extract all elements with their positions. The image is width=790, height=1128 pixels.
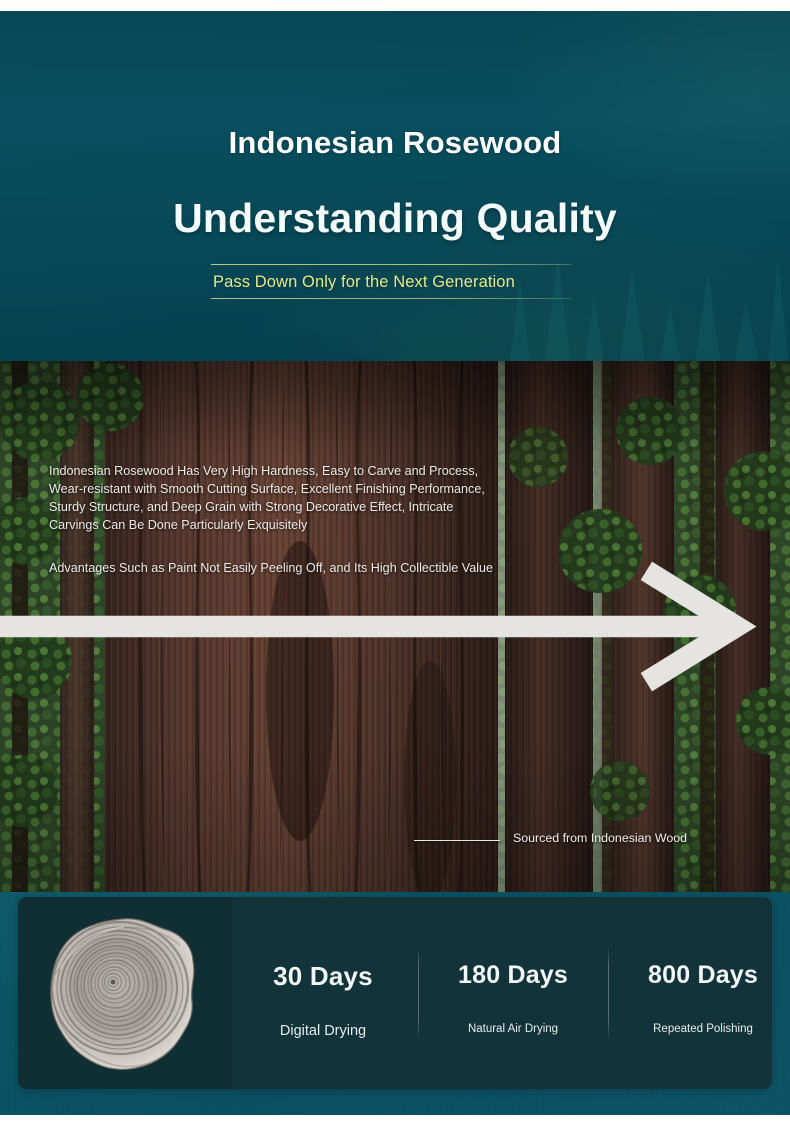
bottom-white-band [0, 1115, 790, 1128]
stats-card-image-panel [18, 897, 233, 1089]
stats-card-values-panel: 30 Days Digital Drying 180 Days Natural … [233, 897, 772, 1089]
tagline-rule-top [211, 264, 571, 265]
stat-item: 30 Days Digital Drying [233, 897, 413, 1089]
stat-value: 180 Days [423, 961, 603, 990]
stat-value: 30 Days [233, 961, 413, 992]
hero-section: Indonesian Rosewood Understanding Qualit… [0, 11, 790, 361]
hero-vignette [0, 11, 790, 361]
tagline-text: Pass Down Only for the Next Generation [211, 265, 571, 298]
tree-ring-cross-section-icon [40, 915, 204, 1073]
source-leader-line [414, 840, 500, 841]
hero-texture-overlay [0, 11, 790, 361]
stat-item: 800 Days Repeated Polishing [613, 897, 772, 1089]
tagline-rule-bottom [211, 298, 571, 299]
product-detail-page: Indonesian Rosewood Understanding Qualit… [0, 0, 790, 1128]
source-label: Sourced from Indonesian Wood [513, 830, 698, 848]
stat-divider [418, 947, 419, 1039]
page-subtitle: Understanding Quality [0, 195, 790, 242]
stat-value: 800 Days [613, 961, 772, 990]
stats-card: 30 Days Digital Drying 180 Days Natural … [18, 897, 772, 1089]
tagline-block: Pass Down Only for the Next Generation [211, 264, 571, 299]
stat-label: Repeated Polishing [613, 1023, 772, 1035]
page-title: Indonesian Rosewood [0, 125, 790, 161]
stat-item: 180 Days Natural Air Drying [423, 897, 603, 1089]
source-callout: Sourced from Indonesian Wood [414, 826, 744, 868]
process-stats-section: 30 Days Digital Drying 180 Days Natural … [0, 892, 790, 1115]
stat-divider [608, 947, 609, 1039]
top-white-band [0, 0, 790, 11]
stat-label: Natural Air Drying [423, 1023, 603, 1035]
stat-label: Digital Drying [233, 1023, 413, 1039]
arrow-right-icon [0, 361, 790, 892]
forest-photo-section: Indonesian Rosewood Has Very High Hardne… [0, 361, 790, 892]
